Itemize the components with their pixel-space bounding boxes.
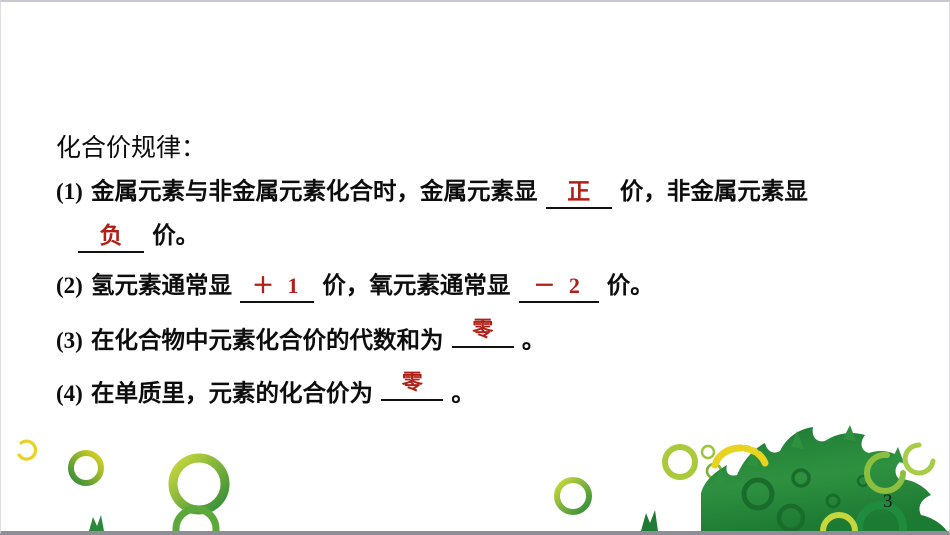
blank-field-1a[interactable]: 正: [546, 176, 612, 209]
blank-answer-4a: 零: [381, 372, 443, 393]
rule-text-2a: 氢元素通常显: [91, 271, 232, 299]
blank-field-2a[interactable]: ＋ 1: [240, 270, 314, 303]
blank-answer-1a: 正: [567, 177, 590, 207]
rule-text-1c: 价。: [152, 221, 199, 249]
leaf-graphic-icon: [1, 421, 950, 531]
rule-text-4b: 。: [451, 379, 475, 407]
blank-answer-2b: － 2: [533, 271, 584, 301]
slide-body: 化合价规律： (1) 金属元素与非金属元素化合时，金属元素显 正 价，非金属元素…: [56, 130, 941, 426]
rule-marker-1: (1): [56, 179, 83, 204]
rule-text-2b: 价，氧元素通常显: [322, 271, 510, 299]
rule-item-3: (3) 在化合物中元素化合价的代数和为 零 。: [56, 320, 941, 356]
page-number: 3: [883, 491, 893, 513]
blank-field-3a[interactable]: 零: [452, 320, 514, 348]
rule-item-1-continued: 负 价。: [56, 220, 941, 253]
slide-canvas: 化合价规律： (1) 金属元素与非金属元素化合时，金属元素显 正 价，非金属元素…: [0, 0, 950, 535]
rule-text-1a: 金属元素与非金属元素化合时，金属元素显: [91, 177, 538, 205]
rule-text-2c: 价。: [607, 271, 654, 299]
rule-text-3a: 在化合物中元素化合价的代数和为: [91, 326, 444, 354]
rule-text-1b: 价，非金属元素显: [620, 177, 808, 205]
blank-answer-3a: 零: [452, 319, 514, 340]
blank-field-4a[interactable]: 零: [381, 373, 443, 401]
page-title: 化合价规律：: [56, 130, 941, 166]
blank-answer-1b: 负: [100, 221, 123, 251]
blank-answer-2a: ＋ 1: [252, 271, 303, 301]
rule-item-2: (2) 氢元素通常显 ＋ 1 价，氧元素通常显 － 2 价。: [56, 270, 941, 303]
rule-text-3b: 。: [522, 326, 546, 354]
rule-item-1: (1) 金属元素与非金属元素化合时，金属元素显 正 价，非金属元素显: [56, 176, 941, 209]
blank-field-2b[interactable]: － 2: [519, 270, 599, 303]
rule-marker-2: (2): [56, 273, 83, 298]
rule-marker-3: (3): [56, 328, 83, 353]
decorative-footer-graphic: [1, 421, 950, 531]
rule-item-4: (4) 在单质里，元素的化合价为 零 。: [56, 373, 941, 409]
blank-field-1b[interactable]: 负: [78, 220, 144, 253]
rule-marker-4: (4): [56, 381, 83, 406]
rule-text-4a: 在单质里，元素的化合价为: [91, 379, 373, 407]
